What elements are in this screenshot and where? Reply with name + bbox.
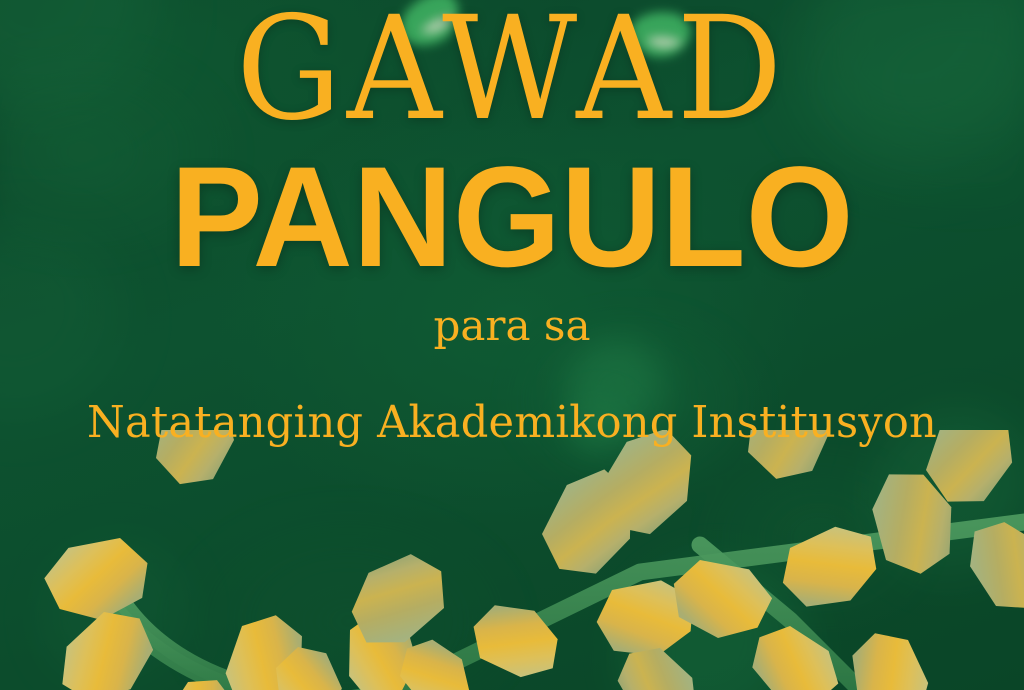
connector-text: para sa — [0, 303, 1024, 349]
page-title-pangulo: PANGULO — [15, 146, 1008, 289]
leaf-15 — [750, 623, 840, 690]
award-category-subtitle: Natatanging Akademikong Institusyon — [10, 399, 1014, 447]
page-title-gawad: GAWAD — [41, 0, 983, 146]
leaf-blade — [461, 587, 568, 690]
vine-illustration — [0, 430, 1024, 690]
leaf-7 — [461, 587, 568, 690]
leaf-blade — [750, 623, 840, 690]
poster-canvas: GAWAD PANGULO para sa Natatanging Akadem… — [0, 0, 1024, 690]
